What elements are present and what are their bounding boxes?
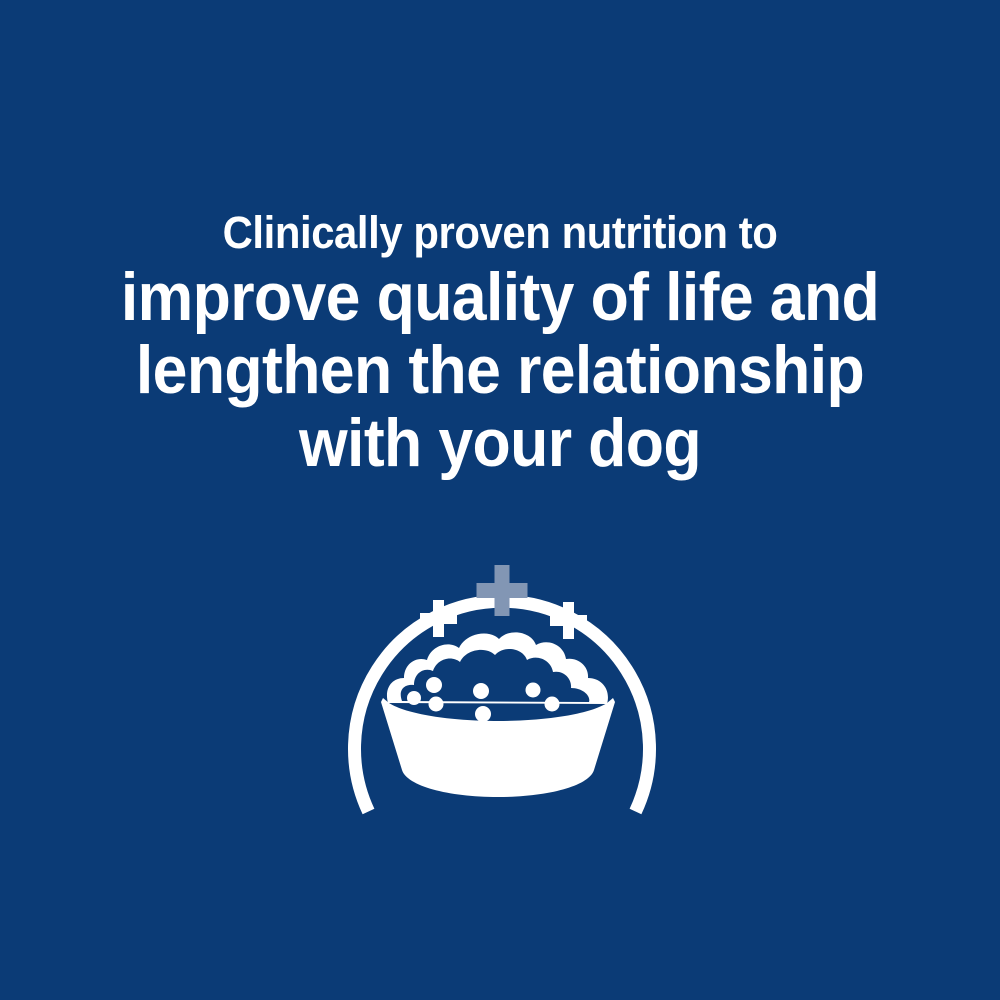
kibble-mound-icon [387, 632, 608, 722]
kibble-dot [475, 706, 491, 722]
headline-block: Clinically proven nutrition to improve q… [0, 205, 1000, 480]
food-bowl-in-arc-icon [326, 518, 678, 838]
poster-canvas: Clinically proven nutrition to improve q… [0, 0, 1000, 1000]
headline-line-3: lengthen the relationship [40, 334, 960, 407]
food-bowl-icon [381, 698, 615, 797]
kibble-dot [526, 683, 541, 698]
kibble-dot [429, 697, 444, 712]
headline-line-1: Clinically proven nutrition to [35, 205, 965, 261]
headline-line-2: improve quality of life and [40, 261, 960, 334]
headline-line-4: with your dog [40, 407, 960, 480]
kibble-dot [473, 683, 489, 699]
food-bowl-in-arc-icon-svg [326, 518, 678, 838]
kibble-dot [545, 697, 560, 712]
kibble-dot [426, 677, 442, 693]
kibble-dot [407, 691, 421, 705]
